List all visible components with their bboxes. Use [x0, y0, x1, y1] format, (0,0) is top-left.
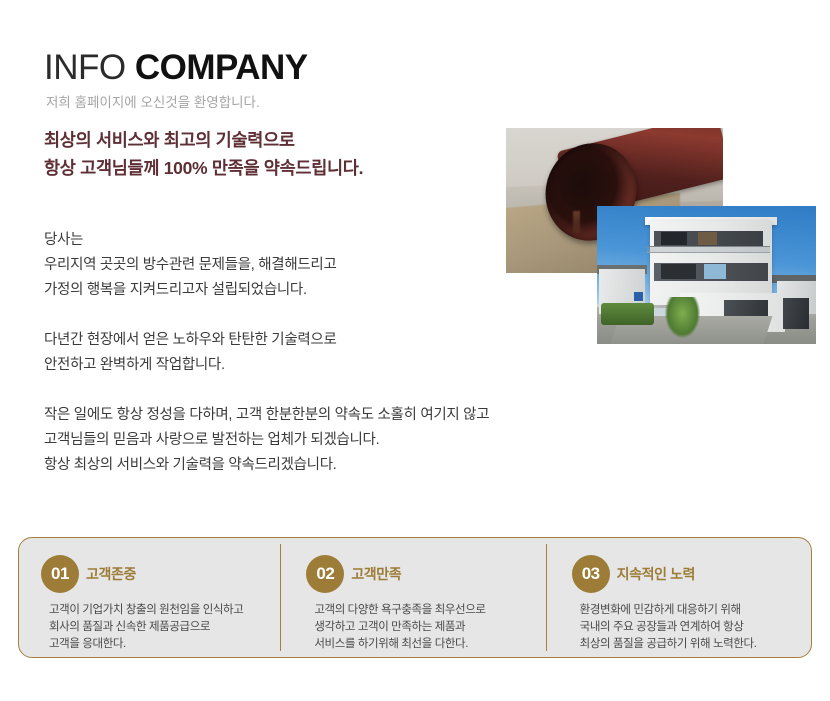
window-upper-right [698, 232, 718, 244]
body-paragraph-3-line-3: 항상 최상의 서비스와 기술력을 약속드리겠습니다. [44, 453, 804, 478]
info-company-page: INFO COMPANY 저희 홈페이지에 오신것을 환영합니다. 최상의 서비… [0, 0, 830, 701]
value-number-badge-1: 01 [41, 555, 79, 593]
window-upper-left [661, 232, 687, 244]
value-column-1: 01 고객존중 고객이 기업가치 창출의 원천임을 인식하고 회사의 품질과 신… [19, 538, 280, 657]
value-title-2: 고객만족 [351, 564, 401, 584]
page-title-light: INFO [44, 48, 126, 87]
water-drip [573, 211, 580, 233]
value-description-3-line-1: 환경변화에 민감하게 대응하기 위해 [580, 602, 801, 619]
value-column-3: 03 지속적인 노력 환경변화에 민감하게 대응하기 위해 국내의 주요 공장들… [546, 538, 811, 657]
value-description-3-line-3: 최상의 품질을 공급하기 위해 노력한다. [580, 636, 801, 653]
value-number-badge-2: 02 [306, 555, 344, 593]
page-title-bold: COMPANY [135, 48, 308, 87]
garage-door-secondary [783, 298, 809, 328]
headline-line-1: 최상의 서비스와 최고의 기술력으로 [44, 126, 514, 154]
street-sign [634, 292, 643, 302]
value-header-2: 02 고객만족 [306, 555, 535, 593]
photo-collage [506, 128, 816, 344]
window-middle-left [661, 264, 696, 279]
value-header-1: 01 고객존중 [41, 555, 270, 593]
value-column-2: 02 고객만족 고객의 다양한 욕구충족을 최우선으로 생각하고 고객이 만족하… [280, 538, 545, 657]
body-paragraph-3-line-2: 고객님들의 믿음과 사랑으로 발전하는 업체가 되겠습니다. [44, 428, 804, 453]
balcony-railing [647, 246, 770, 253]
value-description-1-line-1: 고객이 기업가치 창출의 원천임을 인식하고 [49, 602, 270, 619]
page-header: INFO COMPANY 저희 홈페이지에 오신것을 환영합니다. [44, 48, 514, 113]
page-title: INFO COMPANY [44, 48, 514, 88]
modern-house-photo [597, 206, 816, 344]
page-subtitle: 저희 홈페이지에 오신것을 환영합니다. [46, 93, 514, 113]
value-number-badge-3: 03 [572, 555, 610, 593]
headline: 최상의 서비스와 최고의 기술력으로 항상 고객님들께 100% 만족을 약속드… [44, 126, 514, 182]
value-description-3-line-2: 국내의 주요 공장들과 연계하여 항상 [580, 619, 801, 636]
tree [665, 297, 700, 338]
headline-line-2: 항상 고객님들께 100% 만족을 약속드립니다. [44, 154, 514, 182]
value-description-2: 고객의 다양한 욕구충족을 최우선으로 생각하고 고객이 만족하는 제품과 서비… [306, 602, 535, 653]
value-description-3: 환경변화에 민감하게 대응하기 위해 국내의 주요 공장들과 연계하여 항상 최… [572, 602, 801, 653]
value-description-1-line-3: 고객을 응대한다. [49, 636, 270, 653]
value-description-2-line-3: 서비스를 하기위해 최선을 다한다. [314, 636, 535, 653]
value-description-2-line-1: 고객의 다양한 욕구충족을 최우선으로 [314, 602, 535, 619]
body-paragraph-3: 작은 일에도 항상 정성을 다하며, 고객 한분한분의 약속도 소홀히 여기지 … [44, 403, 804, 478]
body-paragraph-2-line-2: 안전하고 완벽하게 작업합니다. [44, 353, 804, 378]
hedge [601, 303, 654, 325]
value-title-3: 지속적인 노력 [617, 564, 695, 584]
value-description-1: 고객이 기업가치 창출의 원천임을 인식하고 회사의 품질과 신속한 제품공급으… [41, 602, 270, 653]
value-header-3: 03 지속적인 노력 [572, 555, 801, 593]
window-middle-right [704, 264, 726, 279]
value-title-1: 고객존중 [86, 564, 136, 584]
value-description-2-line-2: 생각하고 고객이 만족하는 제품과 [314, 619, 535, 636]
value-description-1-line-2: 회사의 품질과 신속한 제품공급으로 [49, 619, 270, 636]
core-values-panel: 01 고객존중 고객이 기업가치 창출의 원천임을 인식하고 회사의 품질과 신… [18, 537, 812, 658]
body-paragraph-3-line-1: 작은 일에도 항상 정성을 다하며, 고객 한분한분의 약속도 소홀히 여기지 … [44, 403, 804, 428]
